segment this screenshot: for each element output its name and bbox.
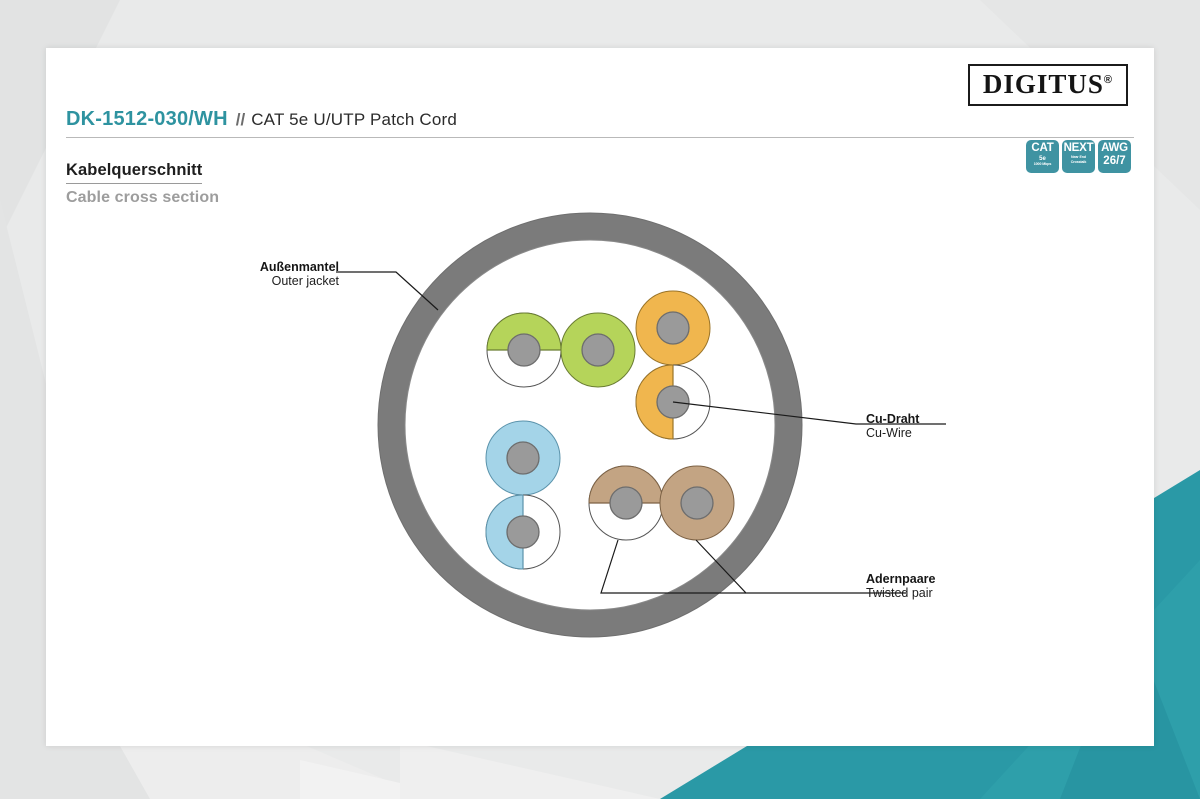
annotation-cu-wire: Cu-Draht Cu-Wire <box>866 412 1046 440</box>
green-wire-solid <box>561 313 635 387</box>
annotation-cu-wire-de: Cu-Draht <box>866 412 1046 426</box>
annotation-twisted-pair-en: Twisted pair <box>866 586 1056 600</box>
brown-wire-solid <box>660 466 734 540</box>
annotation-outer-jacket-en: Outer jacket <box>194 274 339 288</box>
annotation-twisted-pair: Adernpaare Twisted pair <box>866 572 1056 600</box>
annotation-cu-wire-en: Cu-Wire <box>866 426 1046 440</box>
brown-wire-striped <box>589 466 663 540</box>
annotation-twisted-pair-de: Adernpaare <box>866 572 1056 586</box>
outer-jacket-ring <box>378 213 802 637</box>
annotation-outer-jacket: Außenmantel Outer jacket <box>194 260 339 288</box>
blue-wire-solid <box>486 421 560 495</box>
blue-wire-striped <box>486 495 560 569</box>
orange-wire-solid <box>636 291 710 365</box>
green-wire-striped <box>487 313 561 387</box>
cable-cross-section-diagram <box>46 48 1154 746</box>
content-card: DIGITUS® DK-1512-030/WH//CAT 5e U/UTP Pa… <box>46 48 1154 746</box>
annotation-outer-jacket-de: Außenmantel <box>194 260 339 274</box>
